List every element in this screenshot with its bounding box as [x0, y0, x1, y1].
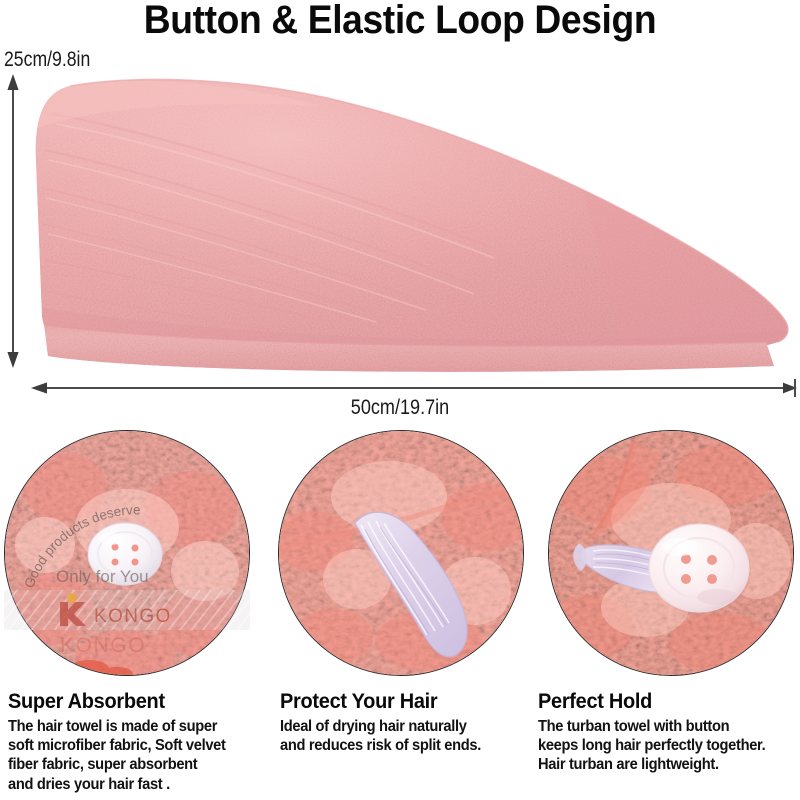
height-dimension-label: 25cm/9.8in	[4, 48, 90, 72]
feature-block-super-absorbent: Super Absorbent The hair towel is made o…	[8, 690, 274, 794]
feature-heading: Super Absorbent	[8, 690, 261, 714]
feature-body-line: The hair towel is made of super	[8, 717, 263, 736]
feature-circle-elastic-loop-closeup	[278, 430, 524, 676]
page-title: Button & Elastic Loop Design	[28, 0, 772, 42]
width-dimension-label: 50cm/19.7in	[56, 396, 744, 420]
feature-body-line: and reduces risk of split ends.	[280, 736, 522, 755]
circle-photo-frame	[548, 430, 794, 676]
feature-body: The hair towel is made of super soft mic…	[8, 717, 263, 794]
feature-circle-button-closeup: Good products deserve Only for You KONGO…	[4, 430, 250, 676]
feature-heading: Perfect Hold	[538, 690, 787, 714]
towel-body	[22, 72, 800, 372]
feature-body: The turban towel with button keeps long …	[538, 717, 790, 775]
feature-body-line: fiber fabric, super absorbent	[8, 755, 263, 774]
vertical-dimension-arrow	[0, 70, 28, 372]
feature-block-protect-your-hair: Protect Your Hair Ideal of drying hair n…	[280, 690, 532, 755]
feature-block-perfect-hold: Perfect Hold The turban towel with butto…	[538, 690, 800, 775]
white-button	[88, 523, 162, 585]
feature-circle-fastened-closeup	[548, 430, 794, 676]
feature-body-line: keeps long hair perfectly together.	[538, 736, 790, 755]
fastened-button-photo	[549, 431, 794, 676]
feature-body-line: and dries your hair fast .	[8, 775, 263, 794]
circle-photo-frame	[278, 430, 524, 676]
button-closeup-photo	[5, 431, 250, 676]
feature-body-line: Ideal of drying hair naturally	[280, 717, 522, 736]
product-hero-image	[22, 72, 800, 372]
feature-body-line: The turban towel with button	[538, 717, 790, 736]
feature-heading: Protect Your Hair	[280, 690, 519, 714]
circle-photo-frame	[4, 430, 250, 676]
elastic-loop-photo	[279, 431, 524, 676]
feature-body: Ideal of drying hair naturally and reduc…	[280, 717, 522, 755]
feature-body-line: Hair turban are lightweight.	[538, 755, 790, 774]
feature-body-line: soft microfiber fabric, Soft velvet	[8, 736, 263, 755]
